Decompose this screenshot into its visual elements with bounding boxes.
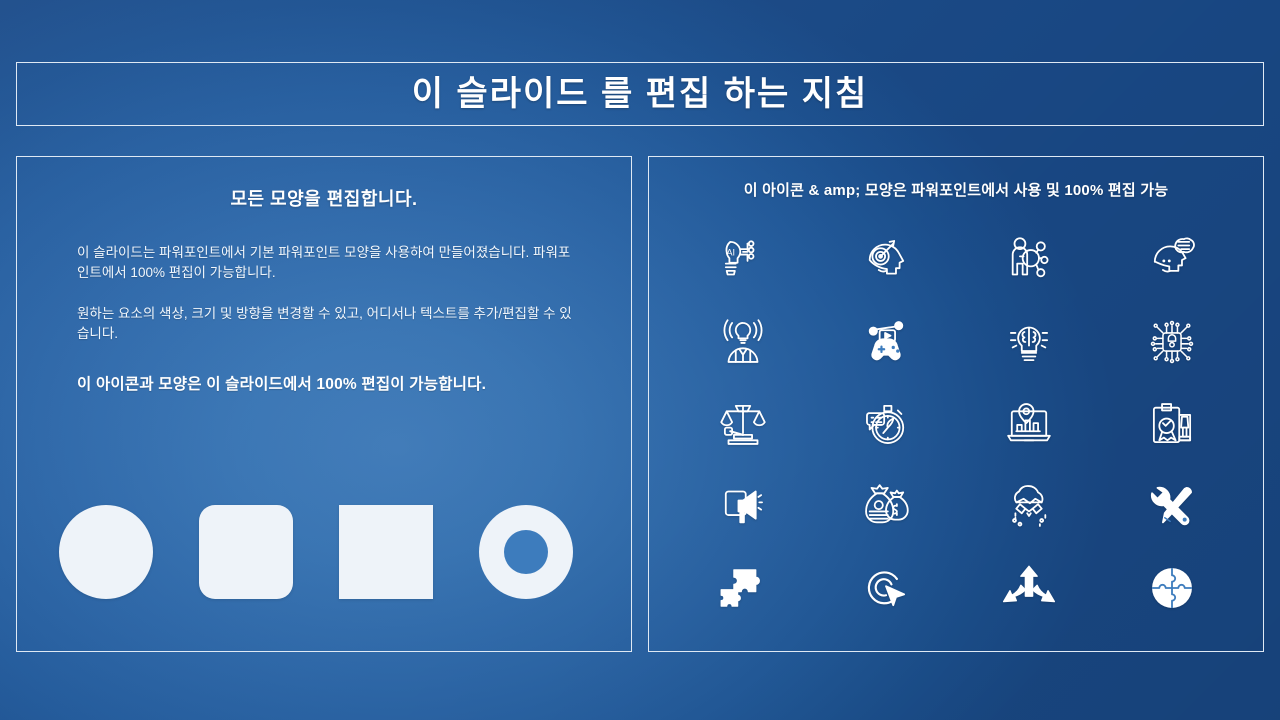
cloud-handshake-icon[interactable] <box>994 471 1064 541</box>
wrench-pen-tools-icon[interactable] <box>1137 471 1207 541</box>
left-panel-heading: 모든 모양을 편집합니다. <box>17 185 631 211</box>
game-controller-icon[interactable] <box>851 307 921 377</box>
head-target-arrow-icon[interactable] <box>851 225 921 295</box>
page-title: 이 슬라이드 를 편집 하는 지침 <box>412 77 869 111</box>
laptop-location-chart-icon[interactable] <box>994 389 1064 459</box>
slide-canvas: 이 슬라이드 를 편집 하는 지침 모든 모양을 편집합니다. 이 슬라이드는 … <box>0 0 1280 720</box>
brain-lightbulb-icon[interactable] <box>994 307 1064 377</box>
click-cursor-target-icon[interactable] <box>851 553 921 623</box>
scales-gavel-icon[interactable] <box>708 389 778 459</box>
circular-puzzle-icon[interactable] <box>1137 553 1207 623</box>
shape-circle[interactable] <box>59 505 153 599</box>
left-panel-emphasis: 이 아이콘과 모양은 이 슬라이드에서 100% 편집이 가능합니다. <box>77 373 577 396</box>
money-bags-icon[interactable] <box>851 471 921 541</box>
left-panel-body: 이 슬라이드는 파워포인트에서 기본 파워포인트 모양을 사용하여 만들어졌습니… <box>77 243 577 419</box>
left-panel-paragraph-1: 이 슬라이드는 파워포인트에서 기본 파워포인트 모양을 사용하여 만들어졌습니… <box>77 243 577 282</box>
megaphone-icon[interactable] <box>708 471 778 541</box>
person-network-icon[interactable] <box>994 225 1064 295</box>
head-thought-bubble-icon[interactable] <box>1137 225 1207 295</box>
left-panel-paragraph-2: 원하는 요소의 색상, 크기 및 방향을 변경할 수 있고, 어디서나 텍스트를… <box>77 304 577 343</box>
slide-title-bar: 이 슬라이드 를 편집 하는 지침 <box>16 62 1264 126</box>
svg-text:AI: AI <box>726 247 735 257</box>
shape-samples-row <box>59 497 595 607</box>
shape-rounded-square[interactable] <box>199 505 293 599</box>
shape-square[interactable] <box>339 505 433 599</box>
clipboard-award-stamp-icon[interactable] <box>1137 389 1207 459</box>
shape-donut[interactable] <box>479 505 573 599</box>
ai-lightbulb-icon[interactable]: AI <box>708 225 778 295</box>
right-panel: 이 아이콘 & amp; 모양은 파워포인트에서 사용 및 100% 편집 가능… <box>648 156 1264 652</box>
circuit-lock-icon[interactable] <box>1137 307 1207 377</box>
right-panel-heading: 이 아이콘 & amp; 모양은 파워포인트에서 사용 및 100% 편집 가능 <box>649 179 1263 200</box>
three-way-arrows-icon[interactable] <box>994 553 1064 623</box>
left-panel: 모든 모양을 편집합니다. 이 슬라이드는 파워포인트에서 기본 파워포인트 모… <box>16 156 632 652</box>
stopwatch-chat-icon[interactable] <box>851 389 921 459</box>
person-idea-broadcast-icon[interactable] <box>708 307 778 377</box>
puzzle-pieces-icon[interactable] <box>708 553 778 623</box>
icon-grid: AI <box>671 219 1243 629</box>
